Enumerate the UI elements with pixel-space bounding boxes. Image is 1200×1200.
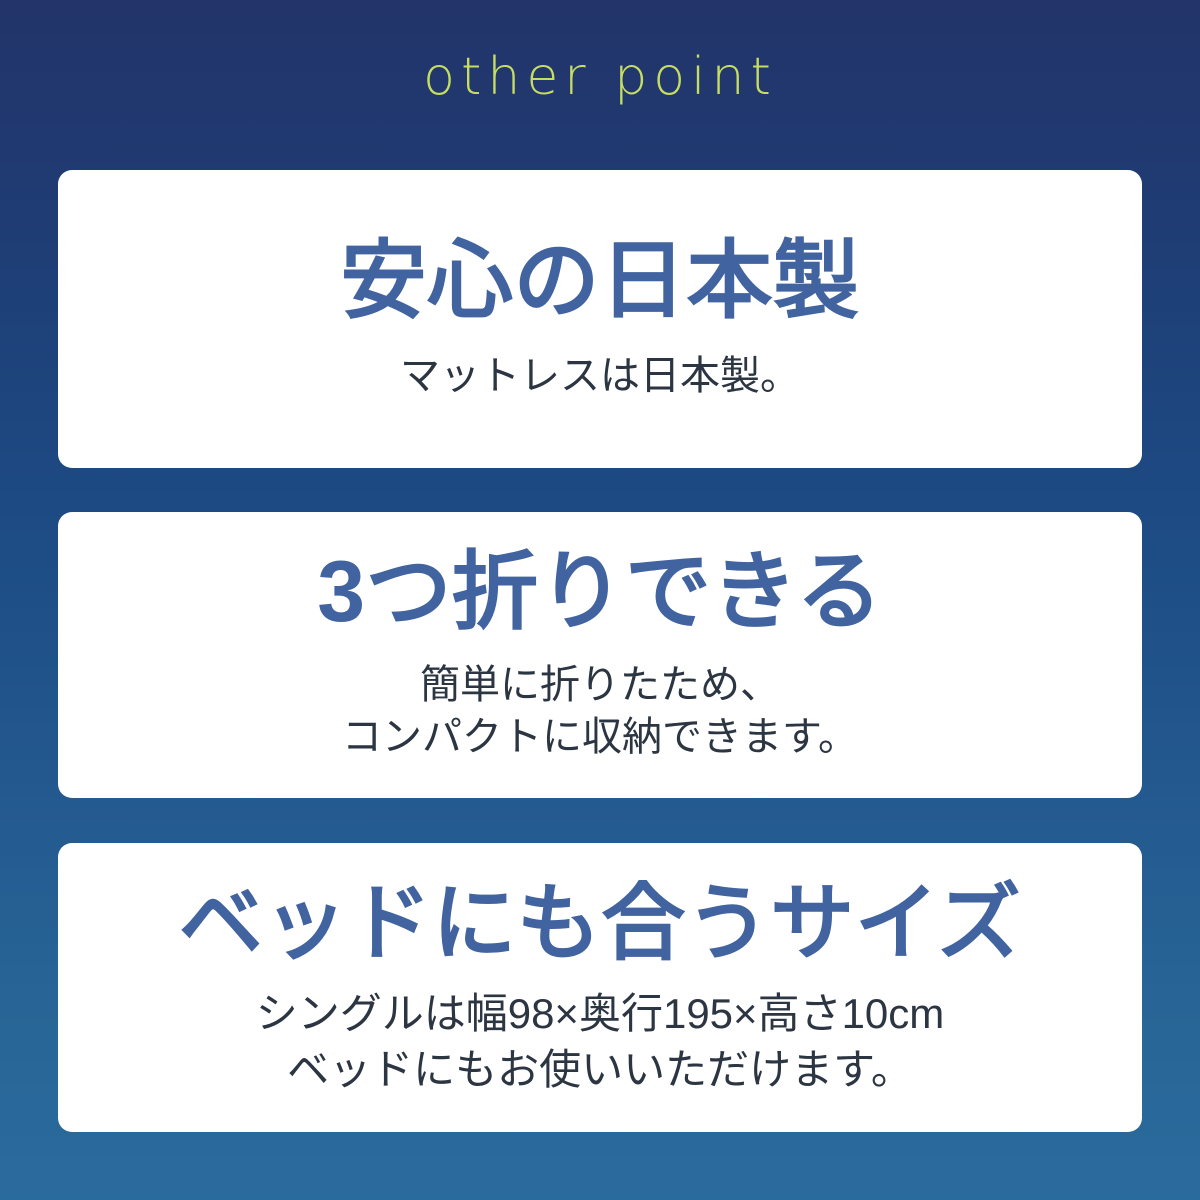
promo-panel: other point 安心の日本製 マットレスは日本製。 3つ折りできる 簡単… <box>0 0 1200 1200</box>
section-title: other point <box>0 48 1200 106</box>
feature-card-body: マットレスは日本製。 <box>400 350 800 403</box>
feature-card-bed-size: ベッドにも合うサイズ シングルは幅98×奥行195×高さ10cm ベッドにもお使… <box>58 843 1142 1132</box>
feature-card-body-line: シングルは幅98×奥行195×高さ10cm <box>256 986 945 1041</box>
feature-card-heading: ベッドにも合うサイズ <box>179 878 1021 969</box>
feature-card-made-in-japan: 安心の日本製 マットレスは日本製。 <box>58 170 1142 468</box>
feature-card-heading: 3つ折りできる <box>317 546 883 639</box>
feature-card-body-line: ベッドにもお使いいただけます。 <box>256 1042 945 1097</box>
feature-card-body-line: マットレスは日本製。 <box>400 350 800 403</box>
feature-card-heading: 安心の日本製 <box>341 235 860 328</box>
feature-card-body: 簡単に折りたため、 コンパクトに収納できます。 <box>342 659 858 765</box>
feature-card-trifold: 3つ折りできる 簡単に折りたため、 コンパクトに収納できます。 <box>58 512 1142 798</box>
feature-card-body-line: コンパクトに収納できます。 <box>342 711 858 764</box>
feature-card-body: シングルは幅98×奥行195×高さ10cm ベッドにもお使いいただけます。 <box>256 986 945 1097</box>
feature-card-body-line: 簡単に折りたため、 <box>342 659 858 712</box>
